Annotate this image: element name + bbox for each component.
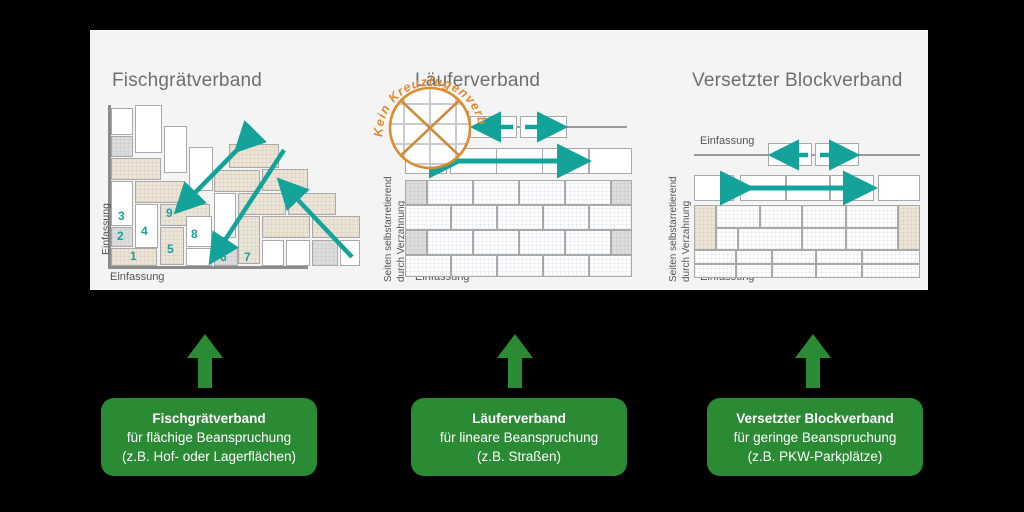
brick [816,264,862,278]
brick [565,180,611,205]
brick [611,180,632,205]
brick [340,240,360,266]
card-laeuferverband[interactable]: Läuferverband für lineare Beanspruchung … [411,398,627,476]
brick [736,250,772,264]
brick [694,205,716,250]
brick [497,205,543,230]
axis-label-left-3b: durch Verzahnung [681,201,693,282]
brick [716,205,760,228]
card-versetzter-blockverband[interactable]: Versetzter Blockverband für geringe Bean… [707,398,923,476]
card-line2-1: für flächige Beanspruchung [127,428,291,447]
diagram-title-fischgraetverband: Fischgrätverband [112,70,262,92]
card-line3-2: (z.B. Straßen) [477,447,561,466]
brick [802,228,846,250]
brick [862,250,920,264]
tile-number: 8 [191,227,198,241]
brick [738,228,802,250]
brick [186,216,212,247]
brick [760,205,802,228]
brick [519,230,565,255]
brick [830,175,874,201]
brick [846,205,898,228]
brick [496,148,543,174]
brick [768,143,812,166]
infographic-root: Fischgrätverband Einfassung Einfassung [0,0,1024,512]
brick [229,144,279,168]
axis-bottom-1 [108,266,308,269]
brick [262,169,308,191]
brick [214,170,260,192]
brick [740,175,786,201]
brick [451,205,497,230]
brick [164,126,187,173]
card-line2-3: für geringe Beanspruchung [734,428,897,447]
brick [238,193,286,215]
brick [111,108,133,135]
brick [286,240,310,266]
brick [473,230,519,255]
card-line3-3: (z.B. PKW-Parkplätze) [748,447,883,466]
card-line2-2: für lineare Beanspruchung [440,428,598,447]
diagram-versetzter-blockverband: Versetzter Blockverband Einfassung Seite… [660,30,928,290]
brick [405,205,451,230]
brick [405,230,427,255]
tile-number: 3 [118,209,125,223]
brick [520,116,567,138]
brick [543,255,589,277]
brick [816,250,862,264]
brick [135,181,185,203]
tile-number: 9 [166,206,173,220]
brick [262,240,284,266]
brick [589,205,632,230]
brick [862,264,920,278]
brick [786,175,830,201]
brick [772,264,816,278]
brick [135,105,162,153]
brick [772,250,816,264]
brick [497,255,543,277]
brick [694,175,734,201]
brick [288,193,336,215]
brick [542,148,589,174]
diagram-panel: Fischgrätverband Einfassung Einfassung [90,30,928,290]
brick [427,230,473,255]
brick [565,230,611,255]
tile-number: 7 [244,250,251,264]
brick [898,205,920,250]
brick [846,228,898,250]
brick [589,148,632,174]
brick [815,143,859,166]
up-arrow-3 [790,332,836,388]
card-fischgraetverband[interactable]: Fischgrätverband für flächige Beanspruch… [101,398,317,476]
brick [543,205,589,230]
tile-number: 4 [141,224,148,238]
brick [312,240,338,266]
tile-number: 2 [117,229,124,243]
brick [111,158,161,180]
brick [519,180,565,205]
brick [611,230,632,255]
brick [214,193,236,238]
tile-number: 6 [220,250,227,264]
brick [111,136,133,157]
tile-number: 5 [167,242,174,256]
brick [694,264,736,278]
axis-label-left-2a: Seiten selbstarretierend [383,176,395,282]
brick [189,147,213,191]
axis-label-left-3a: Seiten selbstarretierend [668,176,680,282]
card-title-1: Fischgrätverband [152,409,265,428]
card-title-3: Versetzter Blockverband [736,409,894,428]
axis-label-bottom-1: Einfassung [110,271,164,283]
brick [878,175,920,201]
up-arrow-2 [492,332,538,388]
brick [451,255,497,277]
card-title-2: Läuferverband [472,409,566,428]
brick [694,250,736,264]
tile-number: 1 [130,249,137,263]
brick [802,205,846,228]
brick [312,216,360,238]
diagram-title-blockverband: Versetzter Blockverband [692,70,903,92]
label-top-3: Einfassung [700,135,754,147]
brick [736,264,772,278]
card-line3-1: (z.B. Hof- oder Lagerflächen) [122,447,296,466]
up-arrow-1 [182,332,228,388]
diagram-fischgraetverband: Fischgrätverband Einfassung Einfassung [90,30,390,290]
brick [262,216,310,238]
brick [716,228,738,250]
brick [186,248,212,266]
brick [405,255,451,277]
brick [589,255,632,277]
badge-kein-kreuzfugenverband: Kein Kreuzfugenverband! [371,66,489,184]
